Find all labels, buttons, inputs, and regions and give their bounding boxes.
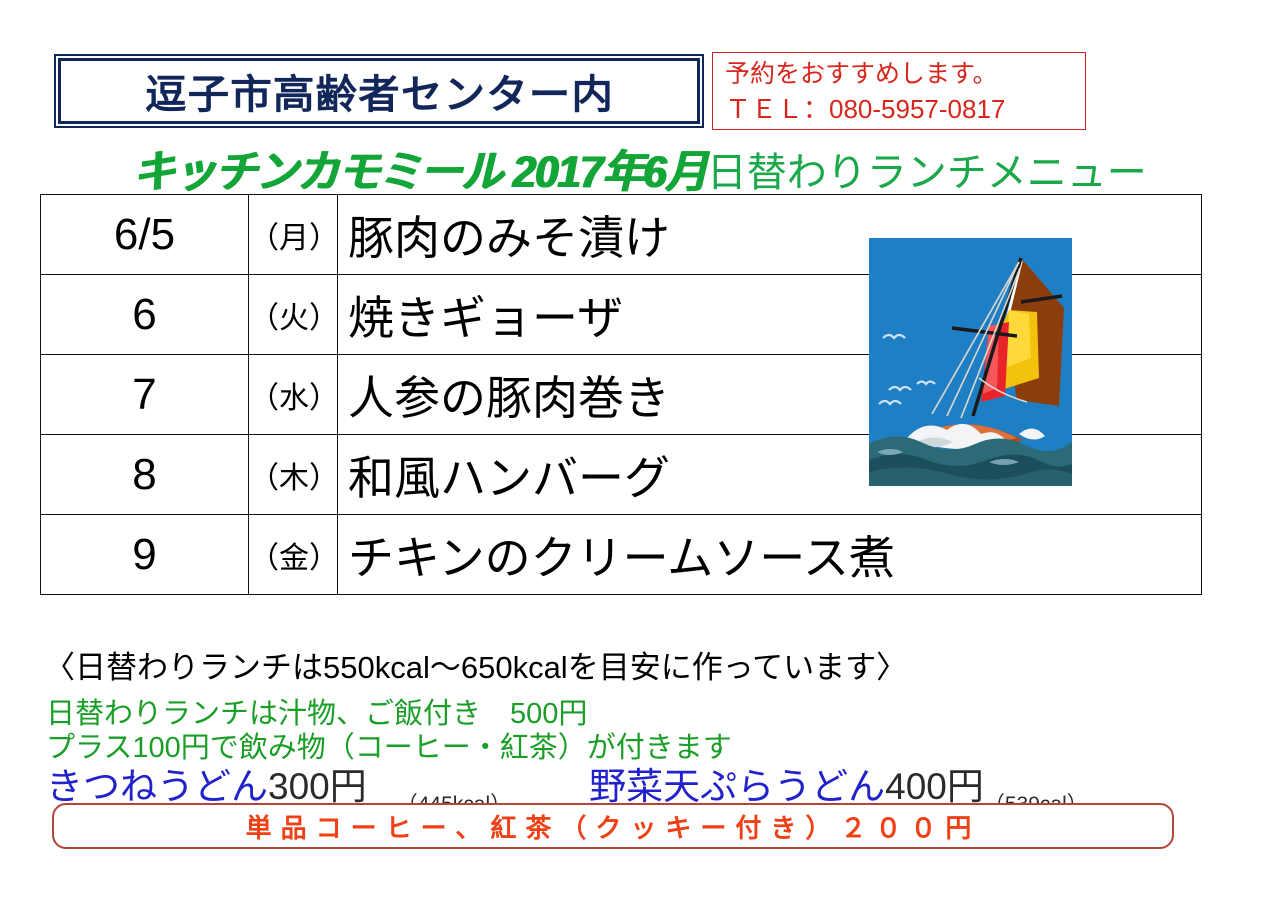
menu-day-cell: （水） xyxy=(249,355,338,435)
menu-date: 6 xyxy=(132,290,156,339)
menu-date: 9 xyxy=(132,530,156,579)
menu-title-line: キッチンカモミール 2017年6月日替わりランチメニュー xyxy=(0,138,1280,199)
coffee-offer-box: 単品コーヒー、紅茶（クッキー付き）２００円 xyxy=(52,803,1174,849)
menu-dish: チキンのクリームソース煮 xyxy=(338,532,895,584)
menu-day-cell: （木） xyxy=(249,435,338,515)
menu-date: 8 xyxy=(132,450,156,499)
venue-title: 逗子市高齢者センター内 xyxy=(144,62,613,120)
menu-title-label: 日替わりランチメニュー xyxy=(707,140,1147,198)
udon-name-yasaiten: 野菜天ぷらうどん xyxy=(589,766,885,807)
table-row: 9 （金） チキンのクリームソース煮 xyxy=(41,515,1202,595)
menu-day-cell: （月） xyxy=(249,195,338,275)
menu-date: 6/5 xyxy=(114,210,175,259)
menu-day-cell: （金） xyxy=(249,515,338,595)
sailboat-illustration xyxy=(869,238,1072,486)
menu-dish-cell: チキンのクリームソース煮 xyxy=(338,515,1202,595)
menu-dish: 人参の豚肉巻き xyxy=(338,372,670,424)
menu-date-cell: 9 xyxy=(41,515,249,595)
coffee-offer-text: 単品コーヒー、紅茶（クッキー付き）２００円 xyxy=(246,808,981,845)
menu-day: （金） xyxy=(249,542,339,575)
calorie-note: 〈日替わりランチは550kcal〜650kcalを目安に作っています〉 xyxy=(44,642,907,687)
menu-date: 7 xyxy=(132,370,156,419)
menu-dish: 和風ハンバーグ xyxy=(338,452,670,504)
menu-dish: 焼きギョーザ xyxy=(338,292,623,344)
reservation-phone-box: 予約をおすすめします。 ＴＥＬ：080-5957-0817 xyxy=(712,52,1086,130)
udon-price-row: きつねうどん300円（445kcal）野菜天ぷらうどん400円（539cal） xyxy=(46,756,1146,810)
udon-price-kitsune: 300円 xyxy=(268,766,367,807)
menu-day: （水） xyxy=(249,382,339,415)
shop-name-and-month: キッチンカモミール 2017年6月 xyxy=(133,136,706,201)
menu-day: （木） xyxy=(249,462,339,495)
reservation-note: 予約をおすすめします。 xyxy=(725,57,1075,92)
telephone-number: ＴＥＬ：080-5957-0817 xyxy=(725,92,1075,127)
venue-title-box: 逗子市高齢者センター内 xyxy=(58,58,700,124)
udon-name-kitsune: きつねうどん xyxy=(46,766,268,807)
menu-date-cell: 7 xyxy=(41,355,249,435)
menu-date-cell: 8 xyxy=(41,435,249,515)
menu-dish: 豚肉のみそ漬け xyxy=(338,212,670,264)
menu-day-cell: （火） xyxy=(249,275,338,355)
menu-date-cell: 6/5 xyxy=(41,195,249,275)
menu-day: （月） xyxy=(249,222,339,255)
menu-day: （火） xyxy=(249,302,339,335)
menu-date-cell: 6 xyxy=(41,275,249,355)
udon-price-yasaiten: 400円 xyxy=(885,766,984,807)
